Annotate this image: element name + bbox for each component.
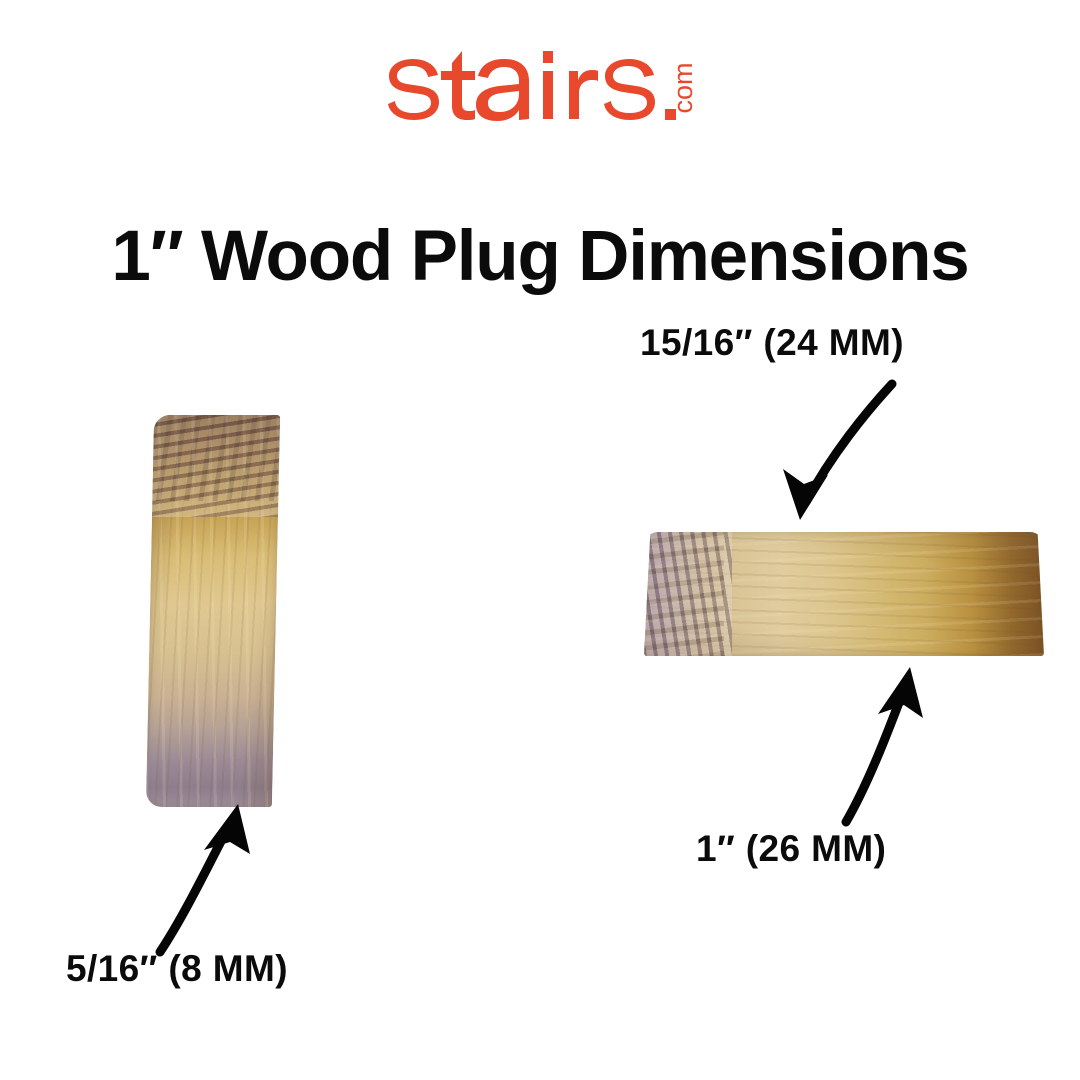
page-title: 1″ Wood Plug Dimensions: [0, 220, 1080, 295]
wood-plug-face-view: [644, 532, 1044, 656]
curved-arrow-down-left-icon: [770, 372, 900, 537]
curved-arrow-up-right-icon: [150, 800, 280, 960]
logo-wordmark-glyphs: [388, 51, 676, 121]
wood-grain-end-rings: [146, 415, 280, 517]
dimension-label-bottom-width: 1″ (26 MM): [696, 828, 886, 870]
wood-plug-dimensions-infographic: com 1″ Wood Plug Dimensions 15/16″ (24 M…: [0, 0, 1080, 1080]
wood-plug-edge-view: [146, 415, 280, 807]
curved-arrow-up-right-icon: [838, 662, 948, 832]
wood-grain-end-rings: [644, 532, 732, 656]
dimension-label-thickness: 5/16″ (8 MM): [66, 948, 288, 990]
logo-tld-text: com: [668, 62, 698, 113]
logo-svg: com: [380, 42, 700, 142]
dimension-label-top-width: 15/16″ (24 MM): [640, 322, 904, 364]
stairs-com-logo: com: [0, 38, 1080, 146]
